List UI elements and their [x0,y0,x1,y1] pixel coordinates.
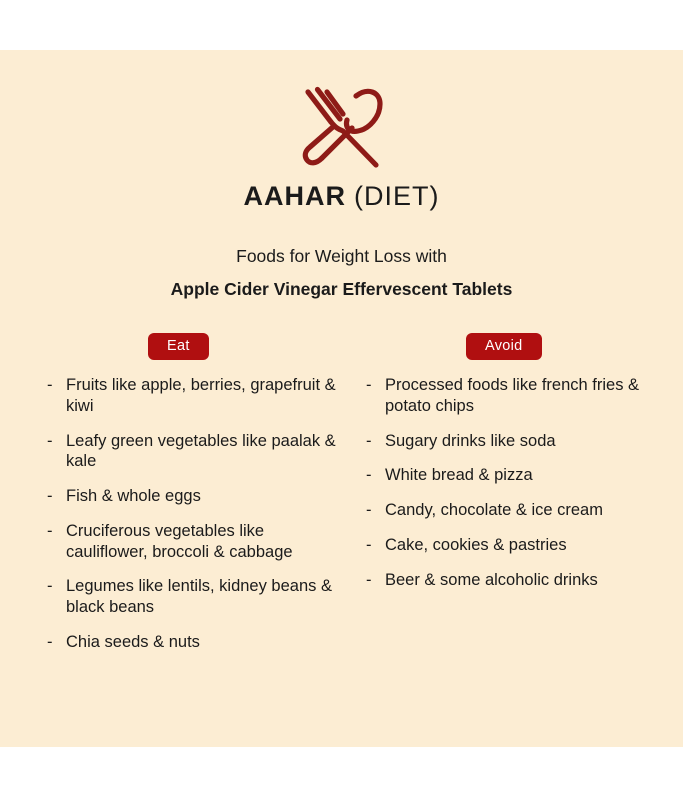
headline-line-2: Apple Cider Vinegar Effervescent Tablets [0,279,683,300]
list-item-label: Chia seeds & nuts [66,633,200,651]
bullet-dash: - [47,375,53,396]
list-item: -Candy, chocolate & ice cream [366,500,656,521]
bullet-dash: - [366,431,372,452]
eat-column: Eat -Fruits like apple, berries, grapefr… [47,333,337,667]
avoid-badge-row: Avoid [366,333,656,375]
list-item: -Cruciferous vegetables like cauliflower… [47,521,337,563]
headline-line-1: Foods for Weight Loss with [0,246,683,267]
list-item-label: Fruits like apple, berries, grapefruit &… [66,376,336,415]
brand-logo [0,86,683,175]
diet-poster: AAHAR (DIET) Foods for Weight Loss with … [0,50,683,747]
bullet-dash: - [366,465,372,486]
brand-name: AAHAR [244,181,347,211]
eat-badge-row: Eat [47,333,337,375]
fork-and-spoon-icon [290,86,394,170]
list-item: -Fish & whole eggs [47,486,337,507]
bullet-dash: - [47,486,53,507]
bullet-dash: - [366,535,372,556]
list-item-label: Cake, cookies & pastries [385,536,567,554]
list-item-label: Candy, chocolate & ice cream [385,501,603,519]
list-item: -Fruits like apple, berries, grapefruit … [47,375,337,417]
list-item-label: Processed foods like french fries & pota… [385,376,639,415]
bullet-dash: - [366,570,372,591]
list-item: -Cake, cookies & pastries [366,535,656,556]
avoid-list: -Processed foods like french fries & pot… [366,375,656,590]
list-item: -White bread & pizza [366,465,656,486]
brand-title: AAHAR (DIET) [0,181,683,212]
bullet-dash: - [47,521,53,542]
bullet-dash: - [366,375,372,396]
list-item-label: Fish & whole eggs [66,487,201,505]
list-item: -Processed foods like french fries & pot… [366,375,656,417]
list-item-label: Leafy green vegetables like paalak & kal… [66,432,336,471]
eat-list: -Fruits like apple, berries, grapefruit … [47,375,337,653]
list-item-label: Beer & some alcoholic drinks [385,571,598,589]
bullet-dash: - [47,431,53,452]
list-item: -Beer & some alcoholic drinks [366,570,656,591]
avoid-column: Avoid -Processed foods like french fries… [366,333,656,604]
list-item-label: Cruciferous vegetables like cauliflower,… [66,522,293,561]
list-item-label: White bread & pizza [385,466,533,484]
list-item: -Legumes like lentils, kidney beans & bl… [47,576,337,618]
bullet-dash: - [366,500,372,521]
bullet-dash: - [47,576,53,597]
brand-qualifier: (DIET) [354,181,439,211]
bullet-dash: - [47,632,53,653]
list-item-label: Sugary drinks like soda [385,432,556,450]
list-item: -Chia seeds & nuts [47,632,337,653]
avoid-badge: Avoid [466,333,542,360]
eat-badge: Eat [148,333,209,360]
list-item-label: Legumes like lentils, kidney beans & bla… [66,577,332,616]
list-item: -Leafy green vegetables like paalak & ka… [47,431,337,473]
list-item: -Sugary drinks like soda [366,431,656,452]
food-columns: Eat -Fruits like apple, berries, grapefr… [0,333,683,733]
